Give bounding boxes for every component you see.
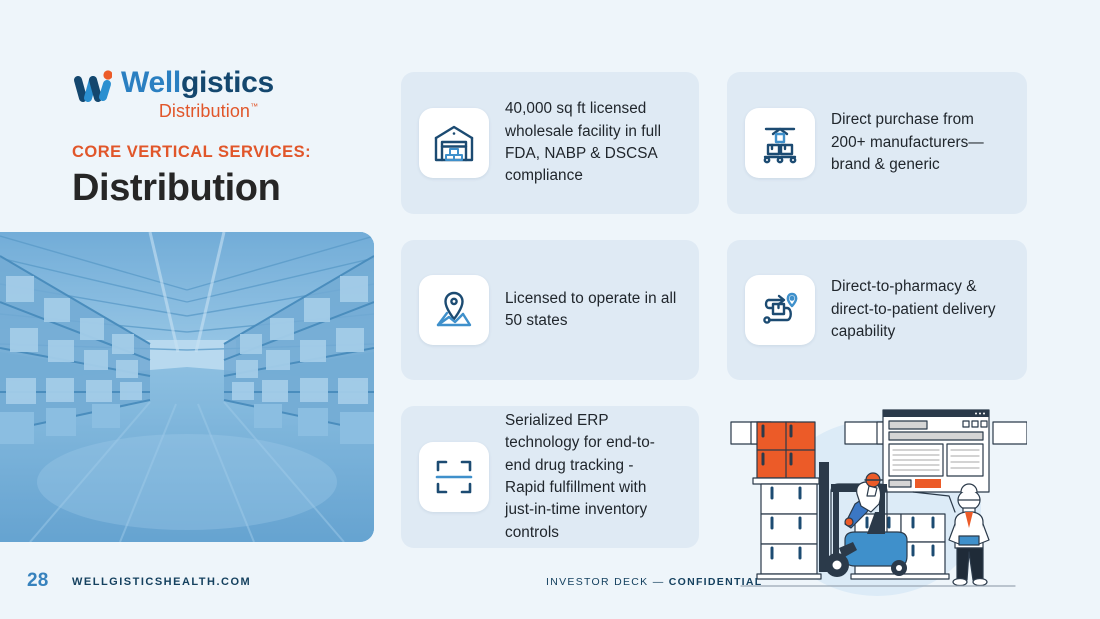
delivery-route-icon xyxy=(745,275,815,345)
section-eyebrow: CORE VERTICAL SERVICES: xyxy=(72,143,311,162)
forklift-warehouse-erp-dashboard-illustration xyxy=(727,400,1027,596)
logo-row: Wellgistics Distribution ™ xyxy=(72,68,372,120)
brand-lockup: Wellgistics Distribution ™ xyxy=(72,68,372,120)
trademark-symbol: ™ xyxy=(250,103,258,111)
wellgistics-w-capsule-logo-icon xyxy=(72,68,112,104)
info-card-text: Licensed to operate in all 50 states xyxy=(505,288,677,333)
map-pin-icon xyxy=(419,275,489,345)
barcode-scan-icon xyxy=(419,442,489,512)
info-card-text: Serialized ERP technology for end-to-end… xyxy=(505,410,677,545)
deck-status-text: CONFIDENTIAL xyxy=(669,576,763,588)
logo-word-dark: gistics xyxy=(181,66,274,99)
info-card-text: 40,000 sq ft licensed wholesale facility… xyxy=(505,98,677,188)
warehouse-photo xyxy=(0,232,374,542)
info-card[interactable]: 40,000 sq ft licensed wholesale facility… xyxy=(401,72,699,214)
info-card[interactable]: Serialized ERP technology for end-to-end… xyxy=(401,406,699,548)
info-card-text: Direct purchase from 200+ manufacturers—… xyxy=(831,109,1005,176)
logo-wordmark: Wellgistics Distribution ™ xyxy=(121,68,274,120)
logo-word-light: Well xyxy=(121,66,181,99)
info-card[interactable]: Licensed to operate in all 50 states xyxy=(401,240,699,380)
logo-word: Wellgistics xyxy=(121,68,274,98)
page-title: Distribution xyxy=(72,167,280,210)
logo-sub-text: Distribution xyxy=(159,102,250,120)
page-number: 28 xyxy=(27,570,49,592)
conveyor-manufacturing-icon xyxy=(745,108,815,178)
info-card-text: Direct-to-pharmacy & direct-to-patient d… xyxy=(831,276,1005,343)
warehouse-icon xyxy=(419,108,489,178)
website-url[interactable]: WELLGISTICSHEALTH.COM xyxy=(72,576,251,588)
info-card[interactable]: Direct purchase from 200+ manufacturers—… xyxy=(727,72,1027,214)
slide-root: Wellgistics Distribution ™ CORE VERTICAL… xyxy=(0,0,1100,619)
deck-confidentiality-label: INVESTOR DECK — CONFIDENTIAL xyxy=(546,576,762,588)
info-card[interactable]: Direct-to-pharmacy & direct-to-patient d… xyxy=(727,240,1027,380)
logo-subline: Distribution ™ xyxy=(121,102,274,120)
deck-label-text: INVESTOR DECK — xyxy=(546,576,669,588)
